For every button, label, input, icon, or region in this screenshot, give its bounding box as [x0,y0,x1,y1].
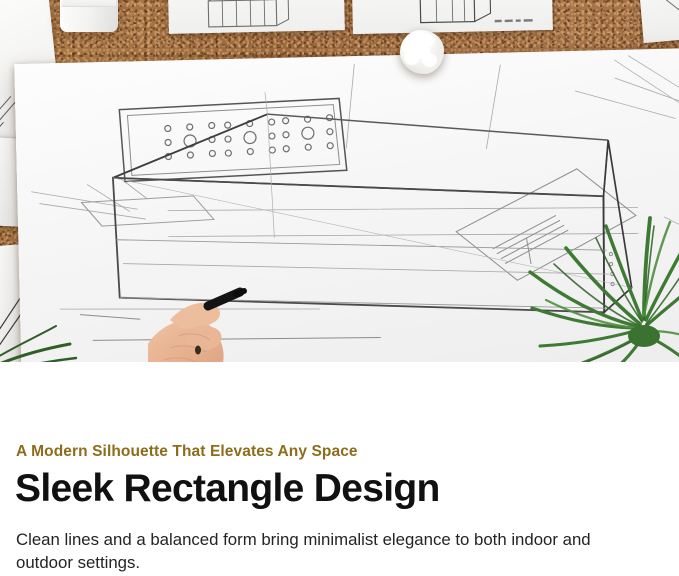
body-text: Clean lines and a balanced form bring mi… [16,528,616,574]
box-elevation-sketch-icon [198,0,309,33]
pinned-sketch-paper [167,0,345,34]
eyebrow-text: A Modern Silhouette That Elevates Any Sp… [16,443,679,460]
pinned-sketch-paper [636,0,679,43]
cotton-ball [400,30,444,74]
product-feature-page: A Modern Silhouette That Elevates Any Sp… [0,0,679,576]
annotation-text-icon [493,14,549,27]
hero-image [0,0,679,362]
flat-rectangle-sketch [81,195,214,226]
plant [518,168,679,362]
hand-with-pencil [148,262,298,362]
perforated-panel-sketch [119,98,347,181]
plant-leaf [0,296,114,362]
pinned-sketch-paper [351,0,553,34]
white-cup [60,0,118,32]
content-block: A Modern Silhouette That Elevates Any Sp… [0,362,679,574]
page-title: Sleek Rectangle Design [15,467,679,511]
sketch-marks-icon [642,0,679,29]
